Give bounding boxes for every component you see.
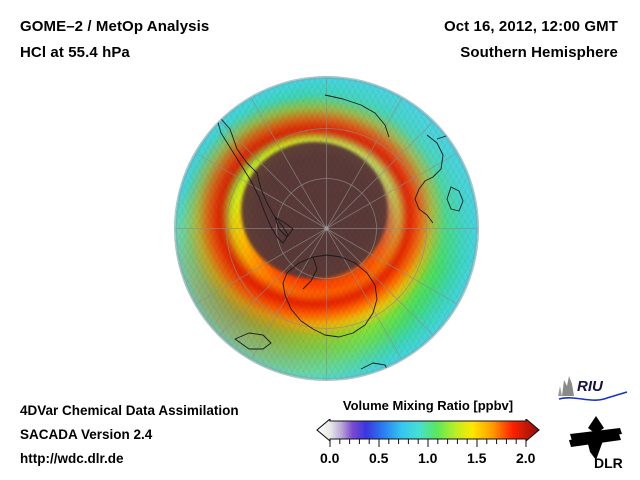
colorbar-title: Volume Mixing Ratio [ppbv] bbox=[316, 398, 540, 413]
colorbar-tick-4: 2.0 bbox=[516, 450, 535, 466]
colorbar-tick-3: 1.5 bbox=[467, 450, 486, 466]
footer-line2: SACADA Version 2.4 bbox=[20, 427, 152, 442]
riu-logo: RIU bbox=[556, 374, 630, 404]
limb-shading bbox=[175, 77, 478, 380]
riu-logo-text: RIU bbox=[577, 378, 604, 395]
colorbar-tick-2: 1.0 bbox=[418, 450, 437, 466]
colorbar-scale bbox=[316, 419, 540, 449]
polar-map-plot bbox=[175, 77, 478, 380]
colorbar-band bbox=[317, 419, 539, 441]
footer-line1: 4DVar Chemical Data Assimilation bbox=[20, 403, 239, 418]
globe-disc bbox=[175, 77, 478, 380]
colorbar: Volume Mixing Ratio [ppbv] bbox=[316, 398, 540, 449]
dlr-logo-text: DLR bbox=[594, 455, 623, 470]
colorbar-tick-0: 0.0 bbox=[320, 450, 339, 466]
timestamp-label: Oct 16, 2012, 12:00 GMT bbox=[444, 18, 618, 35]
hemisphere-label: Southern Hemisphere bbox=[460, 44, 618, 61]
footer-url[interactable]: http://wdc.dlr.de bbox=[20, 451, 124, 466]
colorbar-tick-1: 0.5 bbox=[369, 450, 388, 466]
page-title-line2: HCl at 55.4 hPa bbox=[20, 44, 130, 61]
dlr-logo: DLR bbox=[566, 414, 626, 470]
page-title-line1: GOME–2 / MetOp Analysis bbox=[20, 18, 209, 35]
